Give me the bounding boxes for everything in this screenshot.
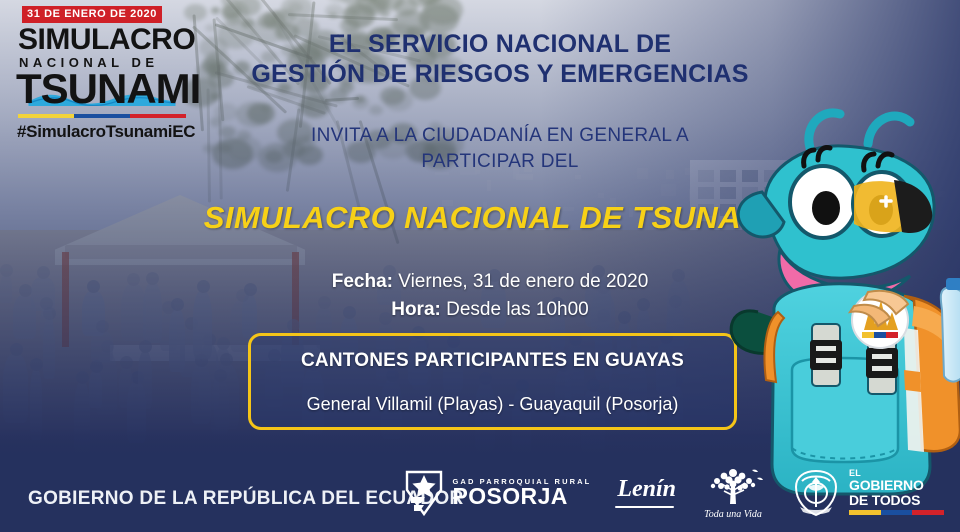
pupil-left: [812, 191, 840, 225]
logo-toda-una-vida: Toda una Vida: [702, 464, 764, 520]
logo-posorja: GAD PARROQUIAL RURAL POSORJA: [403, 466, 592, 518]
government-label: GOBIERNO DE LA REPÚBLICA DEL ECUADOR: [28, 488, 464, 510]
event-date-value: Viernes, 31 de enero de 2020: [393, 271, 648, 292]
subheadline: INVITA A LA CIUDADANÍA EN GENERAL A PART…: [250, 123, 750, 174]
headline-line-2: GESTIÓN DE RIESGOS Y EMERGENCIAS: [250, 60, 750, 90]
logo-date-banner: 31 DE ENERO DE 2020: [22, 6, 162, 23]
headline: EL SERVICIO NACIONAL DE GESTIÓN DE RIESG…: [250, 30, 750, 89]
simulacro-logo: 31 DE ENERO DE 2020 SIMULACRO NACIONAL D…: [12, 6, 192, 146]
bottle-cap: [946, 278, 960, 290]
backpack-buckle-left: [810, 324, 842, 386]
event-time-value: Desde las 10h00: [441, 299, 589, 320]
headline-line-1: EL SERVICIO NACIONAL DE: [250, 30, 750, 60]
subheadline-line-1: INVITA A LA CIUDADANÍA EN GENERAL A: [250, 123, 750, 149]
tsunami-preparedness-mascot: [718, 100, 960, 500]
toda-una-vida-text: Toda una Vida: [704, 509, 762, 520]
logo-lenin: Lenín: [617, 476, 676, 508]
poster-canvas: 31 DE ENERO DE 2020 SIMULACRO NACIONAL D…: [0, 0, 960, 532]
event-time-row: Hora: Desde las 10h00: [230, 296, 750, 324]
event-title: SIMULACRO NACIONAL DE TSUNAMI: [190, 200, 790, 236]
logo-line-simulacro: SIMULACRO: [12, 26, 192, 54]
participants-box-subtitle: General Villamil (Playas) - Guayaquil (P…: [251, 394, 734, 415]
water-bottle-icon: [941, 288, 960, 382]
event-datetime: Fecha: Viernes, 31 de enero de 2020 Hora…: [230, 268, 750, 323]
ecuador-flag-icon: [18, 114, 186, 118]
gobierno-line-3: DE TODOS: [849, 493, 944, 508]
posorja-text: GAD PARROQUIAL RURAL POSORJA: [453, 477, 592, 508]
antenna-right: [868, 116, 910, 144]
posorja-name: POSORJA: [453, 485, 592, 508]
gobierno-line-2: GOBIERNO: [849, 478, 944, 493]
participants-box-title: CANTONES PARTICIPANTES EN GUAYAS: [251, 350, 734, 372]
ecuador-coat-of-arms-icon: [790, 463, 842, 521]
tree-icon: [702, 464, 764, 508]
logo-line-tsunami: TSUNAMI: [12, 68, 192, 110]
event-date-row: Fecha: Viernes, 31 de enero de 2020: [230, 268, 750, 296]
event-time-label: Hora:: [391, 299, 441, 320]
subheadline-line-2: PARTICIPAR DEL: [250, 149, 750, 175]
reflective-strip-accent: [904, 370, 921, 392]
star-shield-icon: [403, 466, 445, 518]
gobierno-de-todos-text: EL GOBIERNO DE TODOS: [849, 469, 944, 516]
antenna-left: [809, 113, 840, 148]
event-date-label: Fecha:: [332, 271, 393, 292]
logo-gobierno-de-todos: EL GOBIERNO DE TODOS: [790, 463, 944, 521]
logo-hashtag: #SimulacroTsunamiEC: [12, 122, 192, 142]
footer-logos: GAD PARROQUIAL RURAL POSORJA Lenín: [403, 460, 945, 524]
gobierno-flag-icon: [849, 510, 944, 515]
participants-box: CANTONES PARTICIPANTES EN GUAYAS General…: [248, 333, 737, 430]
